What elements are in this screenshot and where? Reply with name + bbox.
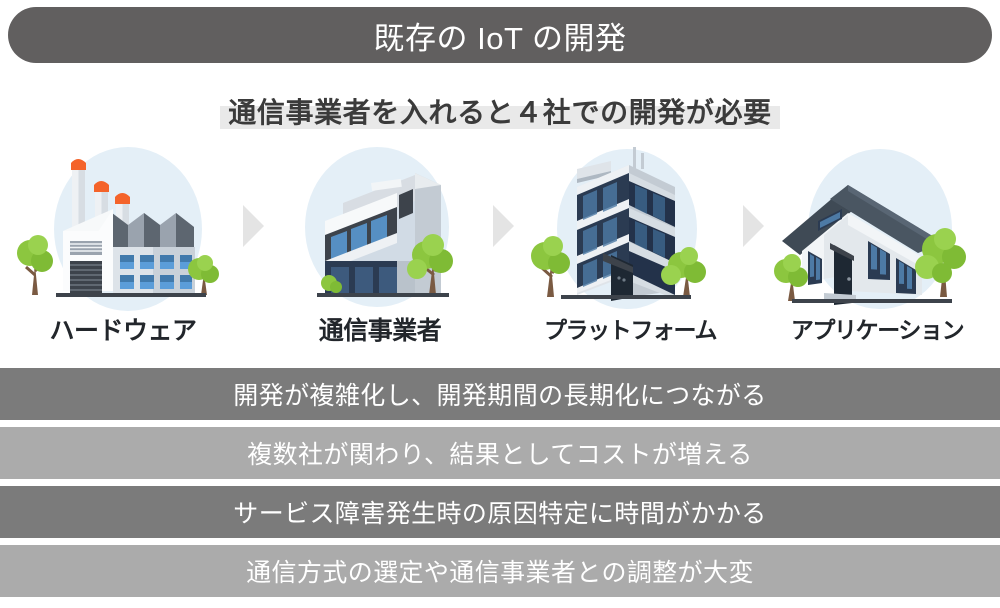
subtitle-container: 通信事業者を入れると４社での開発が必要 <box>0 84 1000 138</box>
flow-stage-platform: プラットフォーム <box>515 143 745 353</box>
multistory-building-icon <box>515 143 745 315</box>
house-icon <box>762 143 992 315</box>
flow-stage-hardware: ハードウェア <box>8 143 238 353</box>
flow-stage-label-application: アプリケーション <box>762 311 992 345</box>
factory-icon <box>8 143 238 315</box>
flow-arrow-1-icon <box>240 203 266 249</box>
issue-bar-list: 開発が複雑化し、開発期間の長期化につながる 複数社が関わり、結果としてコストが増… <box>0 368 1000 604</box>
page-title: 既存の IoT の開発 <box>374 13 627 58</box>
issue-bar: サービス障害発生時の原因特定に時間がかかる <box>0 486 1000 538</box>
issue-bar-text: サービス障害発生時の原因特定に時間がかかる <box>233 494 766 530</box>
issue-bar-text: 開発が複雑化し、開発期間の長期化につながる <box>233 376 766 412</box>
flow-stage-label-carrier: 通信事業者 <box>265 311 495 347</box>
issue-bar: 開発が複雑化し、開発期間の長期化につながる <box>0 368 1000 420</box>
issue-bar-text: 通信方式の選定や通信事業者との調整が大変 <box>246 553 754 589</box>
flow-stage-carrier: 通信事業者 <box>265 143 495 353</box>
office-building-icon <box>265 143 495 315</box>
issue-bar: 通信方式の選定や通信事業者との調整が大変 <box>0 545 1000 597</box>
flow-arrow-2-icon <box>490 203 516 249</box>
issue-bar: 複数社が関わり、結果としてコストが増える <box>0 427 1000 479</box>
page-title-banner: 既存の IoT の開発 <box>8 7 992 63</box>
flow-stage-label-hardware: ハードウェア <box>8 311 238 347</box>
flow-diagram: ハードウェア <box>0 143 1000 353</box>
flow-stage-label-platform: プラットフォーム <box>515 311 745 345</box>
subtitle: 通信事業者を入れると４社での開発が必要 <box>228 91 771 131</box>
subtitle-inner: 通信事業者を入れると４社での開発が必要 <box>220 91 779 131</box>
issue-bar-text: 複数社が関わり、結果としてコストが増える <box>247 435 753 471</box>
flow-stage-application: アプリケーション <box>762 143 992 353</box>
